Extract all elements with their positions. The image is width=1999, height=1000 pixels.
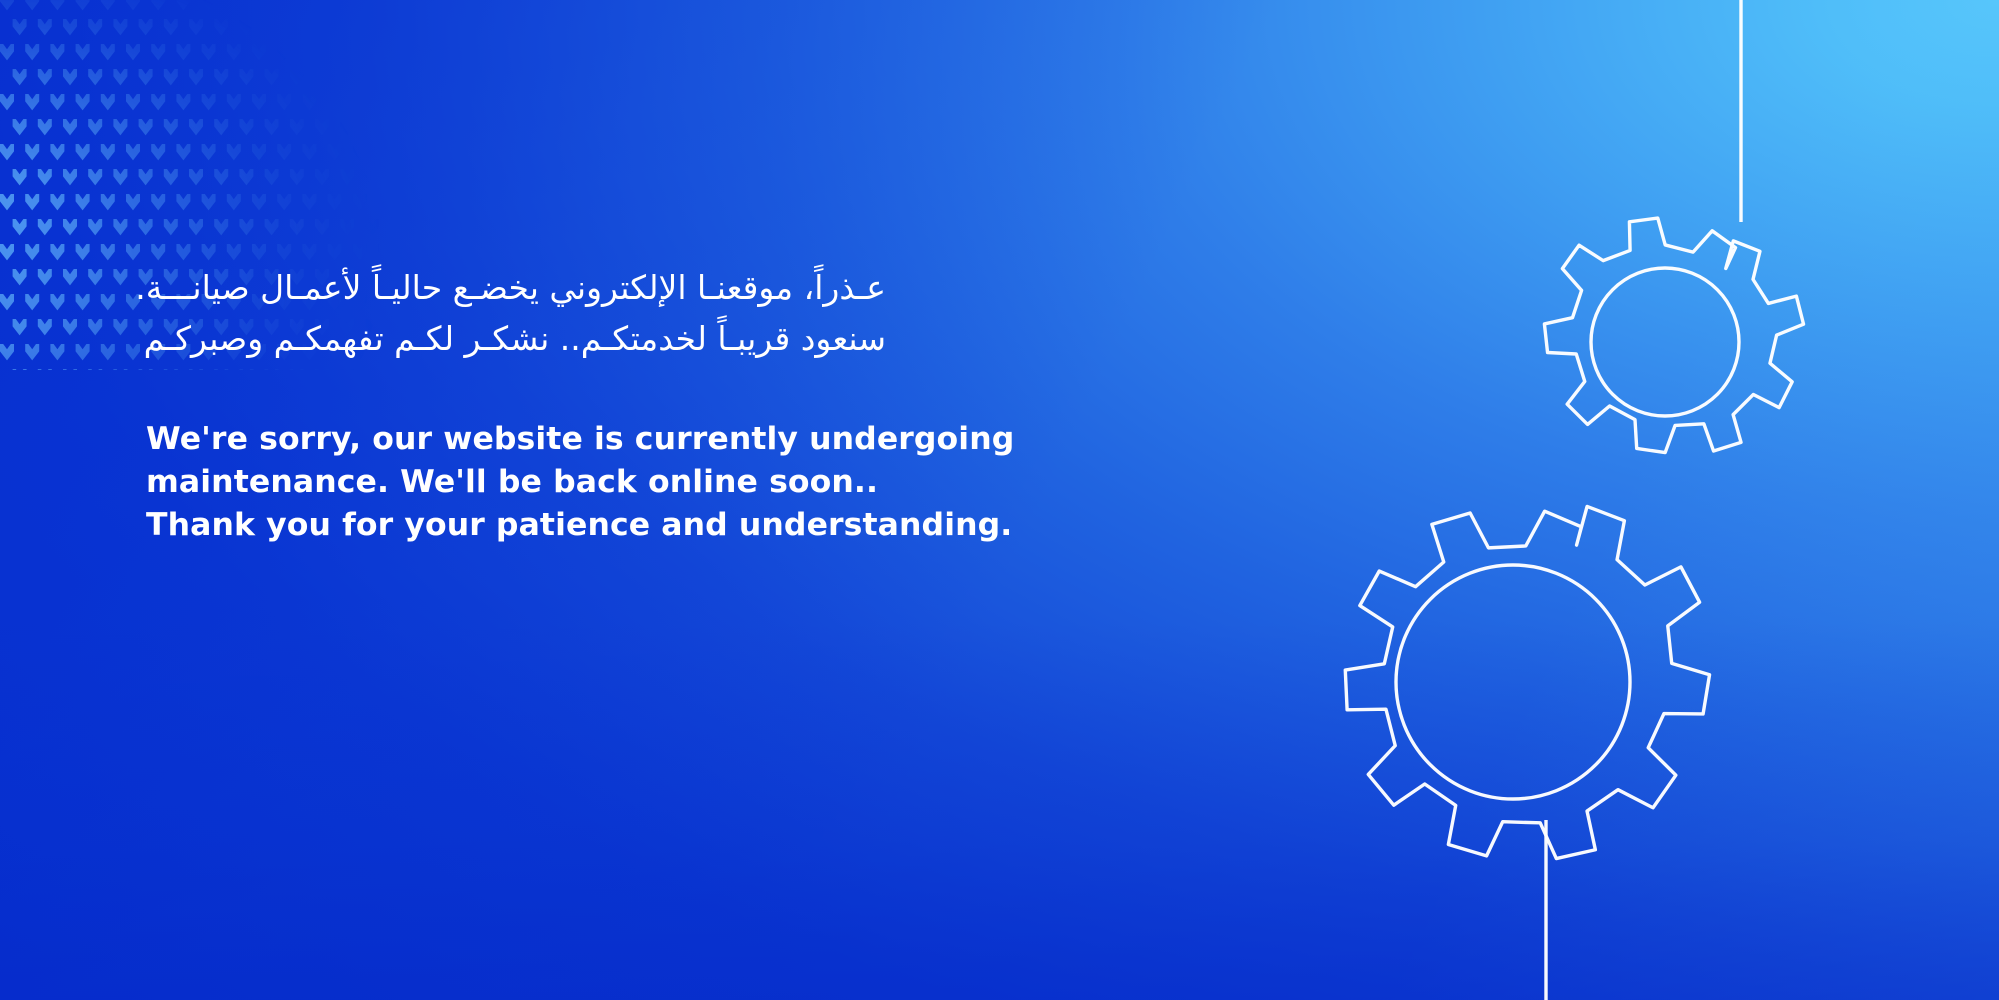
arabic-line-1: عـذراً، موقعنـا الإلكتروني يخضـع حاليـاً… bbox=[146, 262, 886, 313]
english-line-3: Thank you for your patience and understa… bbox=[146, 504, 1106, 547]
arabic-message: عـذراً، موقعنـا الإلكتروني يخضـع حاليـاً… bbox=[146, 262, 886, 364]
message-block: عـذراً، موقعنـا الإلكتروني يخضـع حاليـاً… bbox=[146, 262, 1106, 547]
maintenance-page: عـذراً، موقعنـا الإلكتروني يخضـع حاليـاً… bbox=[0, 0, 1999, 1000]
english-line-1: We're sorry, our website is currently un… bbox=[146, 418, 1106, 461]
english-message: We're sorry, our website is currently un… bbox=[146, 418, 1106, 547]
arabic-line-2: سنعود قريبـاً لخدمتكـم.. نشكـر لكـم تفهم… bbox=[146, 313, 886, 364]
english-line-2: maintenance. We'll be back online soon.. bbox=[146, 461, 1106, 504]
